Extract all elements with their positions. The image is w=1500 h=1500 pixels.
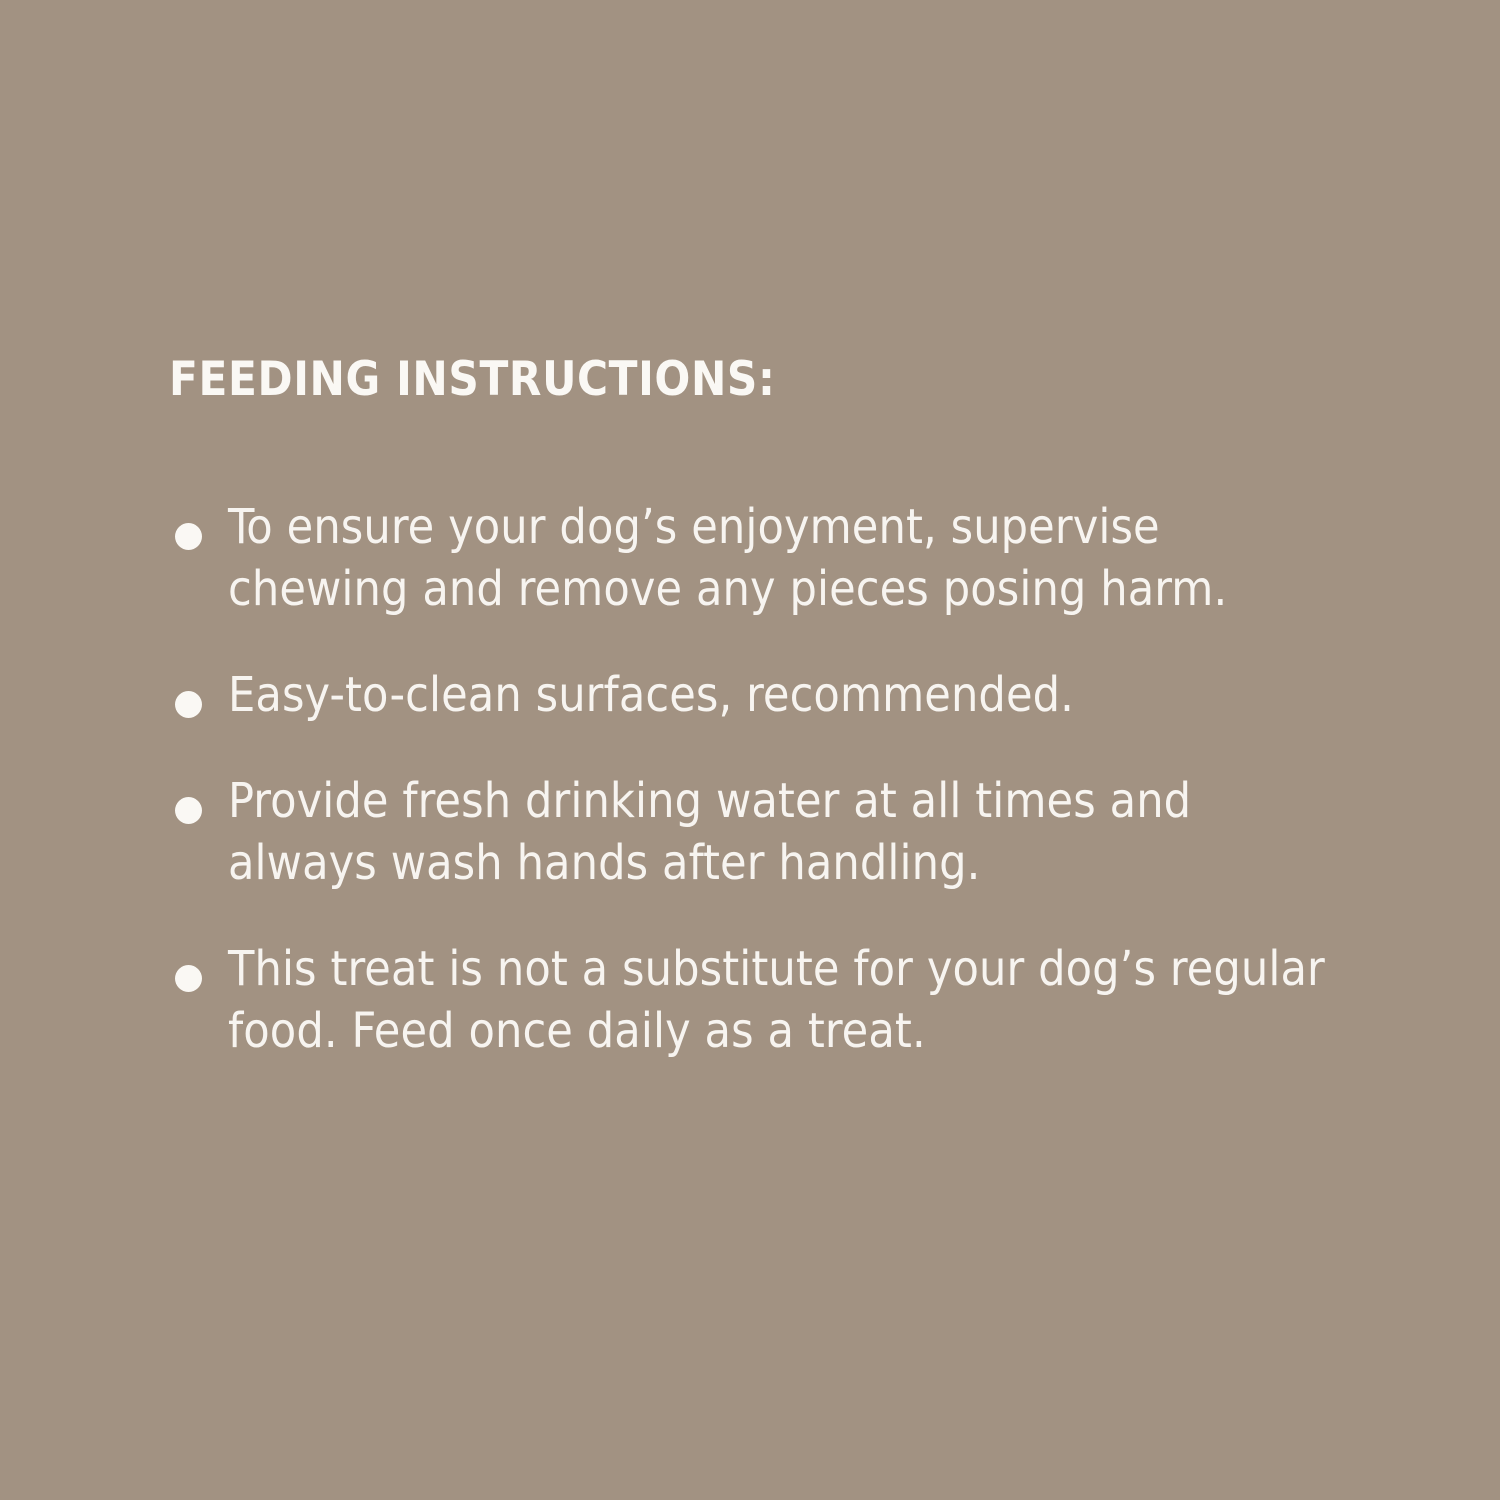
filled-circle-bullet-icon (175, 691, 202, 718)
page-title: FEEDING INSTRUCTIONS: (169, 352, 776, 408)
filled-circle-bullet-icon (175, 523, 202, 550)
list-item-text: This treat is not a substitute for your … (228, 938, 1348, 1062)
filled-circle-bullet-icon (175, 797, 202, 824)
feeding-instructions-list: To ensure your dog’s enjoyment, supervis… (169, 496, 1369, 1062)
list-item: Provide fresh drinking water at all time… (169, 770, 1369, 894)
list-item: To ensure your dog’s enjoyment, supervis… (169, 496, 1369, 620)
list-item-text: To ensure your dog’s enjoyment, supervis… (228, 496, 1348, 620)
list-item-text: Provide fresh drinking water at all time… (228, 770, 1348, 894)
list-item: Easy-to-clean surfaces, recommended. (169, 664, 1369, 726)
feeding-instructions-panel: FEEDING INSTRUCTIONS: To ensure your dog… (0, 0, 1500, 1500)
list-item: This treat is not a substitute for your … (169, 938, 1369, 1062)
list-item-text: Easy-to-clean surfaces, recommended. (228, 664, 1348, 726)
filled-circle-bullet-icon (175, 965, 202, 992)
